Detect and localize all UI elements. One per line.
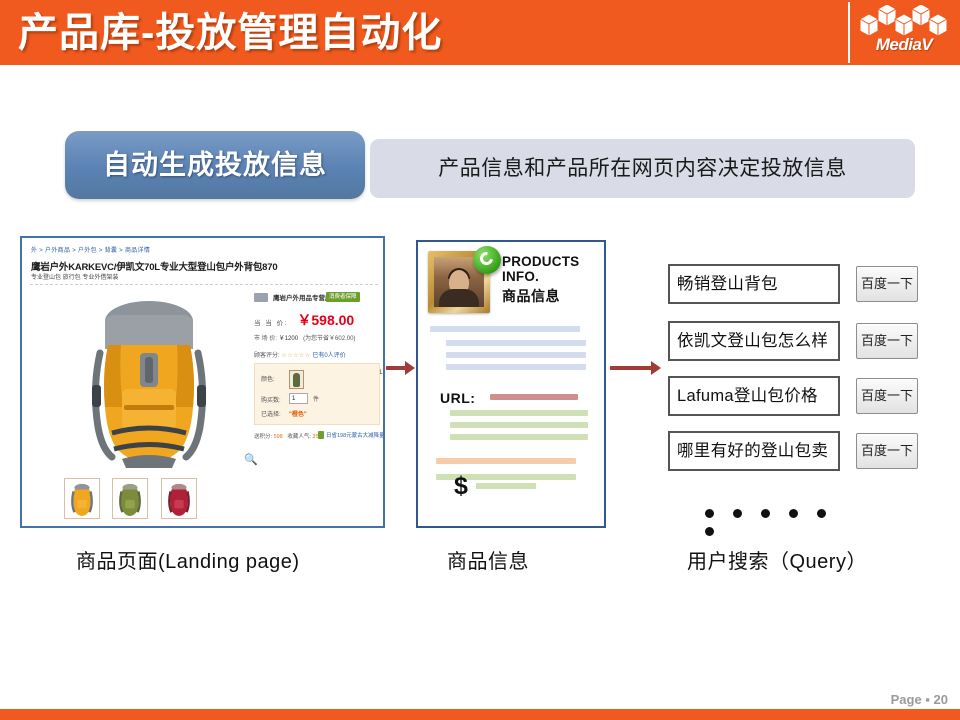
- current-price-label: 当 当 价:: [254, 320, 288, 327]
- flow-arrow-1: [386, 366, 406, 370]
- thumbnail-item[interactable]: [112, 478, 148, 519]
- query-input[interactable]: Lafuma登山包价格: [668, 376, 840, 416]
- rating-label: 顾客评分:: [254, 353, 280, 359]
- product-purchase-info: 鹰岩户外用品专营店 消费者保障 当 当 价: ￥598.00 市 场 价: ￥1…: [254, 292, 380, 305]
- quantity-input[interactable]: 1: [289, 393, 308, 404]
- placeholder-bar: [450, 410, 588, 416]
- dot-icon: [705, 509, 714, 518]
- query-text: 哪里有好的登山包卖: [670, 433, 838, 469]
- consumer-protection-badge: 消费者保障: [326, 292, 360, 302]
- baidu-search-label: 百度一下: [857, 324, 917, 358]
- page-number: Page ▪ 20: [891, 692, 948, 707]
- query-text: Lafuma登山包价格: [670, 378, 838, 414]
- placeholder-bar: [450, 422, 588, 428]
- baidu-search-button[interactable]: 百度一下: [856, 433, 918, 469]
- price-symbol: $: [454, 474, 468, 499]
- selected-value: "橙色": [289, 409, 307, 418]
- flow-arrow-2: [610, 366, 652, 370]
- baidu-search-button[interactable]: 百度一下: [856, 266, 918, 302]
- baidu-search-label: 百度一下: [857, 379, 917, 413]
- baidu-search-button[interactable]: 百度一下: [856, 323, 918, 359]
- more-queries-indicator: [705, 505, 870, 541]
- refresh-badge-icon: [473, 246, 501, 274]
- buy-box: 颜色: 购买数: 1 件 已选择: "橙色": [254, 363, 380, 425]
- caption-landing-page: 商品页面(Landing page): [76, 545, 300, 574]
- baidu-search-label: 百度一下: [857, 267, 917, 301]
- dot-icon: [705, 527, 714, 536]
- products-heading-cn: 商品信息: [502, 286, 560, 306]
- thumbnail-strip: [64, 478, 205, 519]
- rating-stars-icon: ☆☆☆☆☆: [281, 353, 310, 359]
- placeholder-bar: [430, 326, 580, 332]
- caption-product-info: 商品信息: [447, 545, 529, 574]
- selected-label: 已选择:: [261, 409, 281, 418]
- market-price-value: ￥1200: [279, 336, 298, 342]
- promo-link[interactable]: 日省198元蒙古大减降量赠礼／: [326, 431, 385, 439]
- page-title: 产品库-投放管理自动化: [18, 10, 442, 56]
- placeholder-bar: [446, 364, 586, 370]
- placeholder-bar: [446, 340, 586, 346]
- quantity-unit: 件: [313, 394, 319, 403]
- current-price-value: ￥598.00: [297, 312, 354, 328]
- divider: [30, 284, 378, 285]
- product-info-document: PRODUCTS INFO. 商品信息 URL: $: [416, 240, 606, 528]
- placeholder-bar: [476, 483, 536, 489]
- caption-user-query: 用户搜索（Query）: [687, 545, 867, 574]
- current-price-row: 当 当 价: ￥598.00: [254, 310, 354, 330]
- shop-name[interactable]: 鹰岩户外用品专营店: [273, 292, 332, 302]
- products-heading-line2: INFO.: [502, 269, 539, 284]
- market-price-label: 市 场 价:: [254, 336, 277, 342]
- placeholder-bar: [446, 352, 586, 358]
- product-title: 鹰岩户外KARKEVC/伊凯文70L专业大型登山包户外背包870: [31, 259, 277, 273]
- color-swatch-option[interactable]: [289, 370, 304, 389]
- color-label: 颜色:: [261, 374, 275, 383]
- quantity-label: 购买数:: [261, 395, 281, 404]
- placeholder-bar: [450, 434, 588, 440]
- products-heading-line1: PRODUCTS: [502, 254, 579, 269]
- popularity-label: 收藏人气:: [287, 434, 311, 440]
- promo-icon: [318, 431, 324, 439]
- query-input[interactable]: 畅销登山背包: [668, 264, 840, 304]
- backpack-image: [64, 293, 234, 468]
- points-label: 送积分:: [254, 434, 272, 440]
- market-price-row: 市 场 价: ￥1200 (为您节省￥602.00): [254, 333, 355, 342]
- footer-bar: [0, 709, 960, 720]
- landing-page-screenshot: 外 > 户外商品 > 户外包 > 背囊 > 商品详情 鹰岩户外KARKEVC/伊…: [20, 236, 385, 528]
- rating-row: 顾客评分: ☆☆☆☆☆ 已有0人评价: [254, 350, 346, 359]
- thumbnail-item[interactable]: [161, 478, 197, 519]
- query-text: 畅销登山背包: [670, 266, 838, 302]
- dot-icon: [733, 509, 742, 518]
- banner-primary-label: 自动生成投放信息: [65, 131, 365, 199]
- baidu-search-button[interactable]: 百度一下: [856, 378, 918, 414]
- query-input[interactable]: 依凯文登山包怎么样: [668, 321, 840, 361]
- banner-primary: 自动生成投放信息: [65, 131, 365, 199]
- thumbnail-item[interactable]: [64, 478, 100, 519]
- logo-text: MediaV: [850, 35, 958, 55]
- points-value: 598: [274, 434, 283, 440]
- backpack-thumb-red-icon: [162, 479, 196, 518]
- banner-secondary-label: 产品信息和产品所在网页内容决定投放信息: [370, 139, 915, 198]
- backpack-thumb-green-icon: [113, 479, 147, 518]
- dot-icon: [789, 509, 798, 518]
- slide-root: 产品库-投放管理自动化 MediaV 自动生成投放信息 产品信息和产品所在网页内…: [0, 0, 960, 720]
- url-value-bar: [490, 394, 578, 400]
- baidu-search-label: 百度一下: [857, 434, 917, 468]
- dot-icon: [817, 509, 826, 518]
- backpack-thumb-orange-icon: [65, 479, 99, 518]
- dot-icon: [761, 509, 770, 518]
- shop-line: 鹰岩户外用品专营店 消费者保障: [254, 292, 380, 305]
- banner-secondary: 产品信息和产品所在网页内容决定投放信息: [370, 139, 915, 198]
- query-input[interactable]: 哪里有好的登山包卖: [668, 431, 840, 471]
- query-text: 依凯文登山包怎么样: [670, 323, 838, 359]
- placeholder-bar: [436, 458, 576, 464]
- shop-logo-icon: [254, 293, 268, 302]
- rating-link[interactable]: 已有0人评价: [312, 353, 345, 359]
- image-zoom-icon[interactable]: 🔍: [244, 453, 258, 466]
- url-label: URL:: [440, 390, 475, 406]
- logo-cubes-icon: [856, 5, 952, 37]
- breadcrumb: 外 > 户外商品 > 户外包 > 背囊 > 商品详情: [31, 245, 150, 254]
- market-price-note: (为您节省￥602.00): [303, 336, 355, 342]
- product-subtitle: 专业登山包 旅行包 专业外借架装: [31, 272, 118, 281]
- mediav-logo: MediaV: [848, 2, 958, 63]
